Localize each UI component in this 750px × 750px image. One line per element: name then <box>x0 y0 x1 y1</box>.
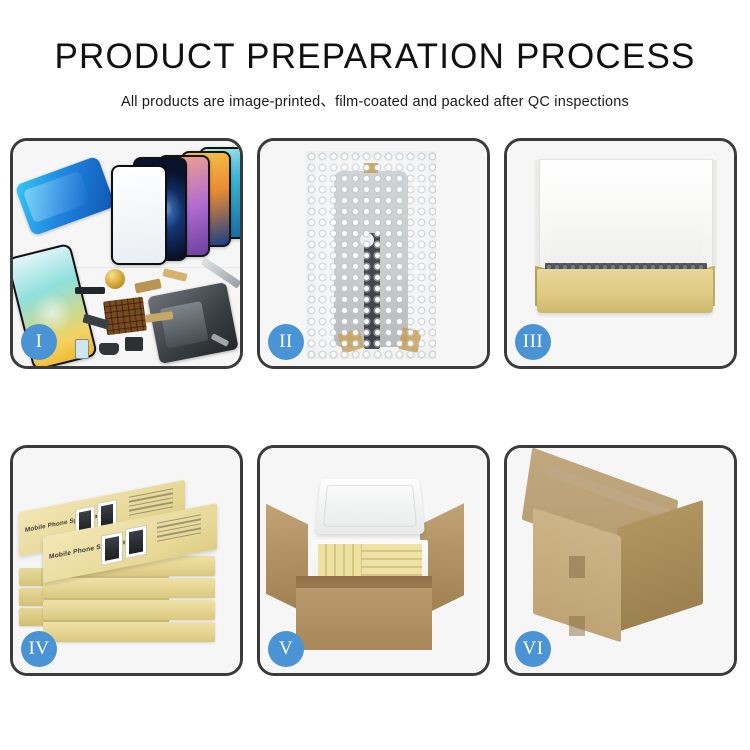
step-badge-5: V <box>268 631 304 667</box>
box-screen-image <box>101 531 123 565</box>
process-step-4: Mobile Phone Spare Parts Mobile Phone Sp… <box>10 445 243 676</box>
yellow-box-tray <box>537 269 713 313</box>
small-part <box>75 287 105 294</box>
step-badge-1: I <box>21 324 57 360</box>
step-badge-3: III <box>515 324 551 360</box>
process-step-5: V <box>257 445 490 676</box>
blue-adhesive-part <box>14 156 115 237</box>
product-preparation-page: PRODUCT PREPARATION PROCESS All products… <box>0 0 750 750</box>
box-spec-lines <box>157 514 201 549</box>
process-step-3: III <box>504 138 737 369</box>
foam-sheet <box>551 187 701 265</box>
carton-front-panel <box>296 588 432 650</box>
foam-box-lid <box>315 479 425 534</box>
step-badge-2: II <box>268 324 304 360</box>
logic-board-part <box>147 282 239 364</box>
page-subtitle: All products are image-printed、film-coat… <box>0 90 750 111</box>
step-badge-4: IV <box>21 631 57 667</box>
process-step-grid: I II <box>10 138 740 676</box>
chip-grid-part <box>103 297 147 336</box>
page-title: PRODUCT PREPARATION PROCESS <box>0 38 750 77</box>
small-part <box>134 278 162 293</box>
step-badge-6: VI <box>515 631 551 667</box>
stacked-box-front <box>43 578 215 598</box>
small-part <box>75 339 89 359</box>
small-part <box>99 343 119 355</box>
process-step-6: VI <box>504 445 737 676</box>
carton-edge-tab <box>569 616 585 636</box>
process-step-2: II <box>257 138 490 369</box>
carton-edge-tab <box>569 556 585 578</box>
small-part <box>162 268 187 282</box>
page-header: PRODUCT PREPARATION PROCESS All products… <box>0 0 750 111</box>
phone-white-front-glass <box>111 165 167 265</box>
small-part <box>125 337 143 351</box>
process-step-1: I <box>10 138 243 369</box>
bubble-wrap-bag <box>306 151 436 359</box>
stacked-box-front <box>43 600 215 620</box>
camera-module-part <box>105 269 125 289</box>
stacked-box-front <box>43 622 215 642</box>
box-screen-image <box>125 525 147 559</box>
